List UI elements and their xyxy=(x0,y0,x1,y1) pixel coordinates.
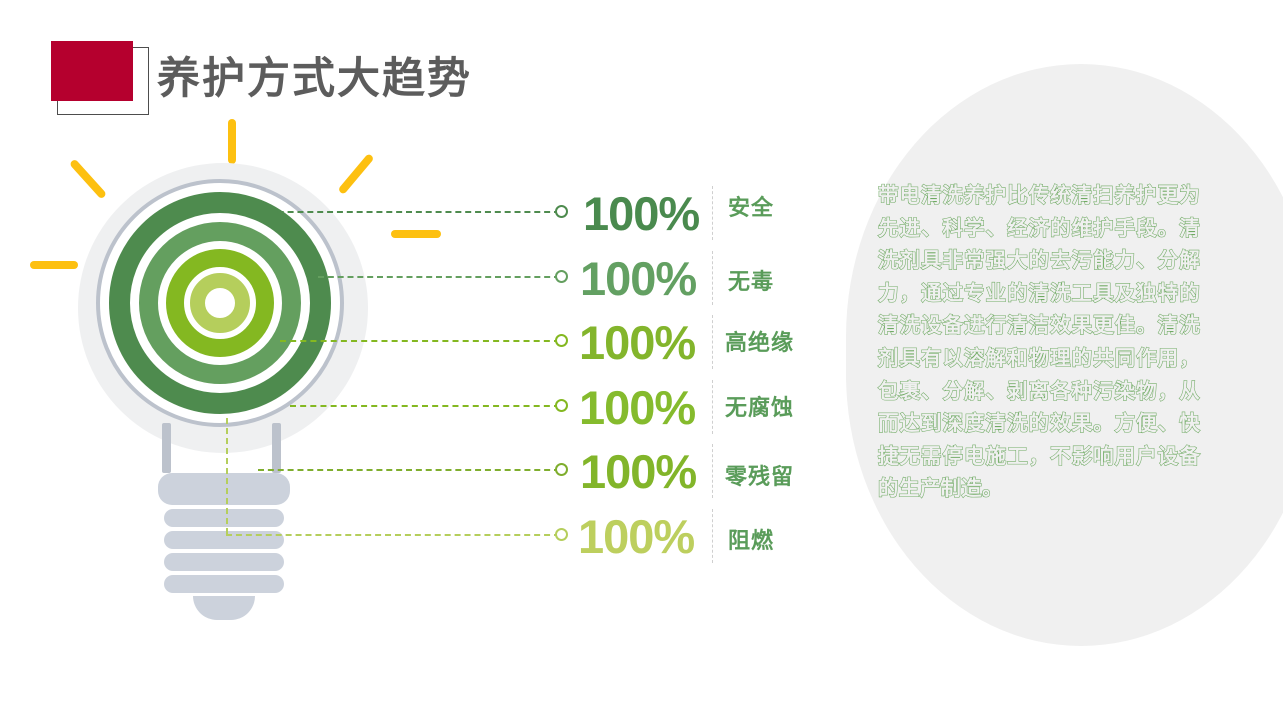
connector-line-4 xyxy=(290,405,560,407)
connector-line-6-vertical xyxy=(226,418,228,534)
bulb-screw-band-1 xyxy=(158,473,290,505)
title-accent-box xyxy=(51,41,133,101)
stat-divider-3 xyxy=(712,315,713,369)
connector-marker-1 xyxy=(555,205,568,218)
connector-line-6 xyxy=(226,534,560,536)
stat-label-1: 安全 xyxy=(728,190,774,222)
stat-label-3: 高绝缘 xyxy=(725,325,794,357)
bulb-neck-right xyxy=(272,423,281,473)
stat-divider-2 xyxy=(712,251,713,305)
connector-marker-5 xyxy=(555,463,568,476)
connector-line-1 xyxy=(258,211,560,213)
connector-marker-4 xyxy=(555,399,568,412)
stat-divider-5 xyxy=(712,444,713,498)
stat-value-6: 100% xyxy=(578,509,694,564)
bulb-screw-band-2 xyxy=(164,509,284,527)
bulb-screw-cap xyxy=(193,596,255,620)
stat-value-5: 100% xyxy=(580,444,696,499)
stat-label-2: 无毒 xyxy=(728,264,774,296)
stat-value-1: 100% xyxy=(583,186,699,241)
stat-label-5: 零残留 xyxy=(725,459,794,491)
connector-marker-2 xyxy=(555,270,568,283)
stat-value-4: 100% xyxy=(579,380,695,435)
stat-label-4: 无腐蚀 xyxy=(725,390,794,422)
bulb-screw-band-5 xyxy=(164,575,284,593)
bulb-screw-band-4 xyxy=(164,553,284,571)
stat-divider-1 xyxy=(712,186,713,240)
stat-divider-6 xyxy=(712,509,713,563)
lightbulb-target-graphic xyxy=(60,155,410,585)
stat-value-2: 100% xyxy=(580,251,696,306)
connector-marker-6 xyxy=(555,528,568,541)
target-ring-4 xyxy=(190,273,250,333)
info-paragraph: 带电清洗养护比传统清扫养护更为先进、科学、经济的维护手段。清洗剂具非常强大的去污… xyxy=(878,180,1200,506)
connector-line-5 xyxy=(258,469,560,471)
stat-label-6: 阻燃 xyxy=(728,523,774,555)
page-title: 养护方式大趋势 xyxy=(157,44,472,106)
slide-canvas: 带电清洗养护比传统清扫养护更为先进、科学、经济的维护手段。清洗剂具非常强大的去污… xyxy=(0,0,1283,721)
bulb-neck-left xyxy=(162,423,171,473)
connector-line-3 xyxy=(280,340,560,342)
stat-value-3: 100% xyxy=(579,315,695,370)
connector-marker-3 xyxy=(555,334,568,347)
connector-line-2 xyxy=(318,276,560,278)
stat-divider-4 xyxy=(712,380,713,434)
